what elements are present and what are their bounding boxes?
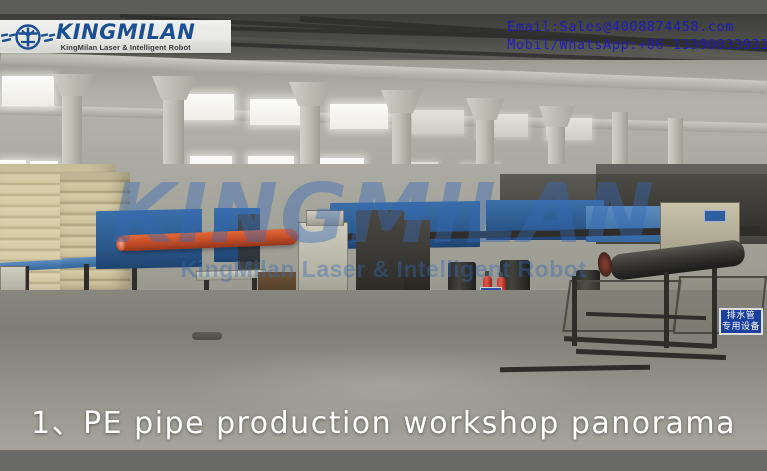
equipment-sign-line2: 专用设备 xyxy=(722,322,760,333)
kingmilan-emblem-icon xyxy=(0,22,56,52)
window xyxy=(330,104,388,129)
control-cabinet xyxy=(306,210,344,226)
contact-info-overlay: Email:Sales@4008874458.com Mobil/WhatsAp… xyxy=(507,18,767,54)
steel-post xyxy=(572,276,577,346)
brand-tagline: KingMilan Laser & Intelligent Robot xyxy=(56,43,195,52)
brand-text-block: KINGMILAN KingMilan Laser & Intelligent … xyxy=(56,21,195,52)
window xyxy=(2,76,54,106)
haul-off-machine xyxy=(404,220,430,292)
equipment-sign-line1: 排水管 xyxy=(727,311,756,322)
letterbox-top-bar xyxy=(0,0,767,14)
letterbox-bottom-bar xyxy=(0,450,767,471)
panel-blue xyxy=(704,210,726,222)
image-caption: 1、PE pipe production workshop panorama xyxy=(0,406,767,442)
workshop-photo: 排水管 专用设备 KINGMILAN KingMilan Laser & Int… xyxy=(0,14,767,450)
fire-extinguisher-neck xyxy=(485,271,489,276)
fire-extinguisher-neck xyxy=(499,272,503,277)
contact-email-line[interactable]: Email:Sales@4008874458.com xyxy=(507,18,767,36)
floor-debris xyxy=(192,332,222,340)
steel-post xyxy=(664,272,669,348)
haul-off-machine xyxy=(356,210,404,302)
contact-phone-line[interactable]: Mobil/WhatsApp:+86-13390833931 xyxy=(507,36,767,54)
brand-logo-banner[interactable]: KINGMILAN KingMilan Laser & Intelligent … xyxy=(0,20,231,53)
window xyxy=(412,110,464,134)
steel-post xyxy=(712,268,717,348)
equipment-sign[interactable]: 排水管 专用设备 xyxy=(719,308,763,335)
screenshot-stage: 排水管 专用设备 KINGMILAN KingMilan Laser & Int… xyxy=(0,0,767,471)
brand-wordmark: KINGMILAN xyxy=(56,22,195,42)
